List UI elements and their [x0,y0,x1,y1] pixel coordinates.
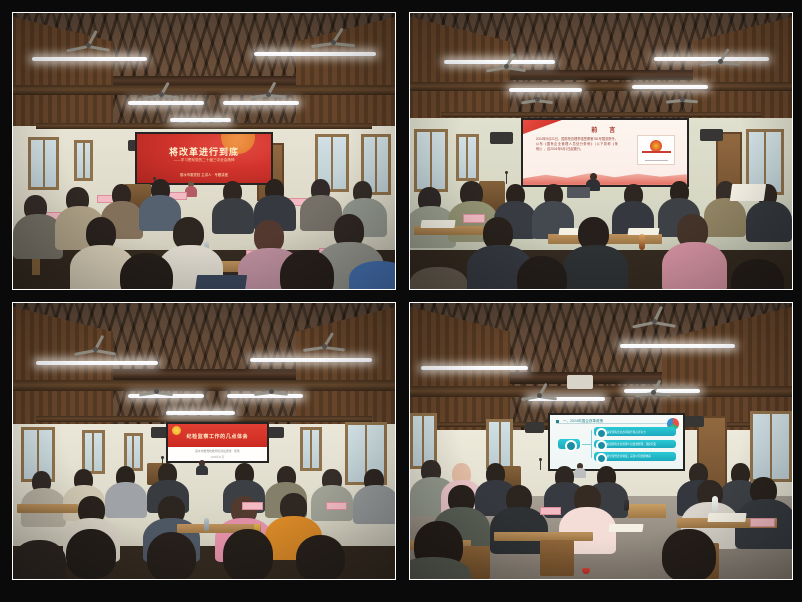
slide-subtitle: ——学习贯彻党的二十届三中全会精神 [137,158,271,163]
water-bottle [204,518,209,531]
photo-top-left: 将改革进行到底 ——学习贯彻党的二十届三中全会精神 丽水市委党校 主讲人 · 专… [13,13,395,289]
wall-speaker [700,129,723,141]
light-tube [166,411,235,415]
paper-sheet [707,513,746,522]
attendee-body [704,198,746,237]
attendee-head-front [223,529,273,579]
wall-speaker [525,422,544,433]
attendee-head-front [662,529,715,579]
diagram-hub [558,439,581,449]
diagram-hub-dot [565,440,577,452]
diagram-connector-vertical [591,430,592,458]
ceiling-beam-secondary [36,123,372,129]
diagram-row-label: 健全现代企业制度，完善公司治理体系 [607,454,651,458]
diagram-row-dot [596,453,607,464]
name-card [463,214,484,223]
diagram-row: 深化国有企业改革提升核心竞争力 [594,427,677,436]
microphone [540,460,541,470]
photo-frame-bottom-right: 一、2024年国企改革政策 深化国有企业改革提升核心竞争力 加强国有企业管理人员… [409,302,793,580]
light-tube [254,52,376,56]
ceiling-beam [410,386,792,397]
ceiling-fan [143,88,179,100]
slide-subtitle: 丽水市委党校教师培训班课堂 · 现场 [168,449,267,453]
attendee-head-front [66,529,116,579]
presenter [574,463,586,478]
microphone [506,173,507,184]
projector-screen: 前 言 2024年5月21日，国务院总理李强签署第781号国务院令，公布《国有企… [521,118,689,187]
presenter-body [196,465,208,475]
attendee-head-front [296,535,346,579]
light-tube [632,85,708,89]
light-tube [32,57,147,61]
diagram-row-dot [596,440,607,451]
diagram-row: 加强国有企业管理人员监督管理，强化问责 [594,440,677,449]
wall-speaker [490,132,513,144]
ceiling-fan [635,386,671,398]
laptop [567,187,590,198]
diagram-connector [582,444,591,445]
light-tube [170,118,231,122]
ceiling-beam [13,85,395,95]
ceiling-fan [74,342,116,356]
photo-collage: 将改革进行到底 ——学习贯彻党的二十届三中全会精神 丽水市委党校 主讲人 · 专… [0,0,802,602]
ceiling-beam [410,82,792,91]
window [300,427,323,471]
diagram-row: 健全现代企业制度，完善公司治理体系 [594,452,677,461]
photo-bottom-left: 纪检监察工作的几点体会 丽水市委党校教师培训班课堂 · 现场 2024年11月 [13,303,395,579]
ceiling-fan [311,35,355,49]
slide-title: 纪检监察工作的几点体会 [168,433,267,440]
slide-body: 2024年5月21日，国务院总理李强签署第781号国务院令，公布《国有企业管理人… [536,137,618,152]
diagram-row-dot [596,428,607,439]
name-card [540,507,561,515]
ceiling-fan [666,93,698,104]
attendee-head-front [280,250,333,289]
document-card-footer [645,160,668,161]
attendee-body-front [13,540,66,579]
water-bottle [712,496,718,511]
document-card-rule [642,151,671,153]
attendee-body-front [410,267,467,289]
attendee-body [212,198,254,234]
window [486,419,513,469]
slide-title: 前 言 [523,125,687,134]
ceiling-fan [521,389,557,401]
water-bottle [639,234,645,250]
window [74,140,93,181]
photo-frame-top-left: 将改革进行到底 ——学习贯彻党的二十届三中全会精神 丽水市委党校 主讲人 · 专… [12,12,396,290]
slide-footer: 丽水市委党校 主讲人 · 专题讲座 [137,172,271,177]
projector-screen: 一、2024年国企改革政策 深化国有企业改革提升核心竞争力 加强国有企业管理人员… [548,413,686,471]
photo-top-right: 前 言 2024年5月21日，国务院总理李强签署第781号国务院令，公布《国有企… [410,13,792,289]
document-card [637,135,675,164]
attendee-body [746,201,792,242]
ceiling-fan [254,386,288,397]
light-tube [421,366,528,370]
window [750,411,792,483]
ceiling-fan [66,38,110,52]
window [82,430,105,474]
light-tube [509,88,582,92]
light-tube [128,101,204,105]
ceiling-fan [521,93,553,104]
light-tube [250,358,372,362]
name-card [326,502,347,510]
ceiling-fan [139,386,173,397]
notebook [195,275,247,289]
projector [567,375,594,389]
ceiling-beam-secondary [441,112,762,117]
window [456,134,479,181]
ceiling-fan [700,54,740,67]
ceiling-beam [13,380,395,391]
window [414,129,448,192]
diagram-row-label: 深化国有企业改革提升核心竞争力 [607,430,646,434]
window [28,137,59,189]
attendee-head-front [147,532,197,579]
attendee-body [353,485,395,524]
photo-frame-bottom-left: 纪检监察工作的几点体会 丽水市委党校教师培训班课堂 · 现场 2024年11月 [12,302,396,580]
attendee-body-front [349,261,395,289]
attendee-body [662,242,727,289]
paper-sheet [730,184,767,201]
ceiling-fan [486,60,526,73]
chair-back [540,540,574,576]
photo-frame-top-right: 前 言 2024年5月21日，国务院总理李强签署第781号国务院令，公布《国有企… [409,12,793,290]
photo-bottom-right: 一、2024年国企改革政策 深化国有企业改革提升核心竞争力 加强国有企业管理人员… [410,303,792,579]
attendee-body [563,245,628,289]
paper-sheet [608,524,644,532]
ceiling-fan [250,88,286,100]
attendee-head-front [517,256,567,289]
name-card [750,518,775,527]
desk [17,504,78,512]
paper-sheet [421,220,457,228]
presenter [196,460,208,475]
slide-footer: 2024年11月 [168,455,267,459]
water-bottle [624,499,629,511]
projector-screen: 纪检监察工作的几点体会 丽水市委党校教师培训班课堂 · 现场 2024年11月 [166,422,269,463]
slide-bullet-marker [556,420,559,423]
floor-platform [628,504,666,518]
diagram-row-label: 加强国有企业管理人员监督管理，强化问责 [607,442,656,446]
light-tube [620,344,735,348]
slide-title: 将改革进行到底 [137,145,271,158]
attendee-body [105,482,147,518]
attendee-head-front [731,259,784,289]
slide-mountain-decor [523,168,687,185]
name-card [242,502,263,510]
presenter-body [574,468,586,478]
ceiling-fan [632,314,676,328]
wall-speaker [685,416,704,427]
light-tube [223,101,299,105]
light-tube [36,361,158,365]
slide-title-rule [556,423,676,424]
ceiling-fan [303,339,345,353]
